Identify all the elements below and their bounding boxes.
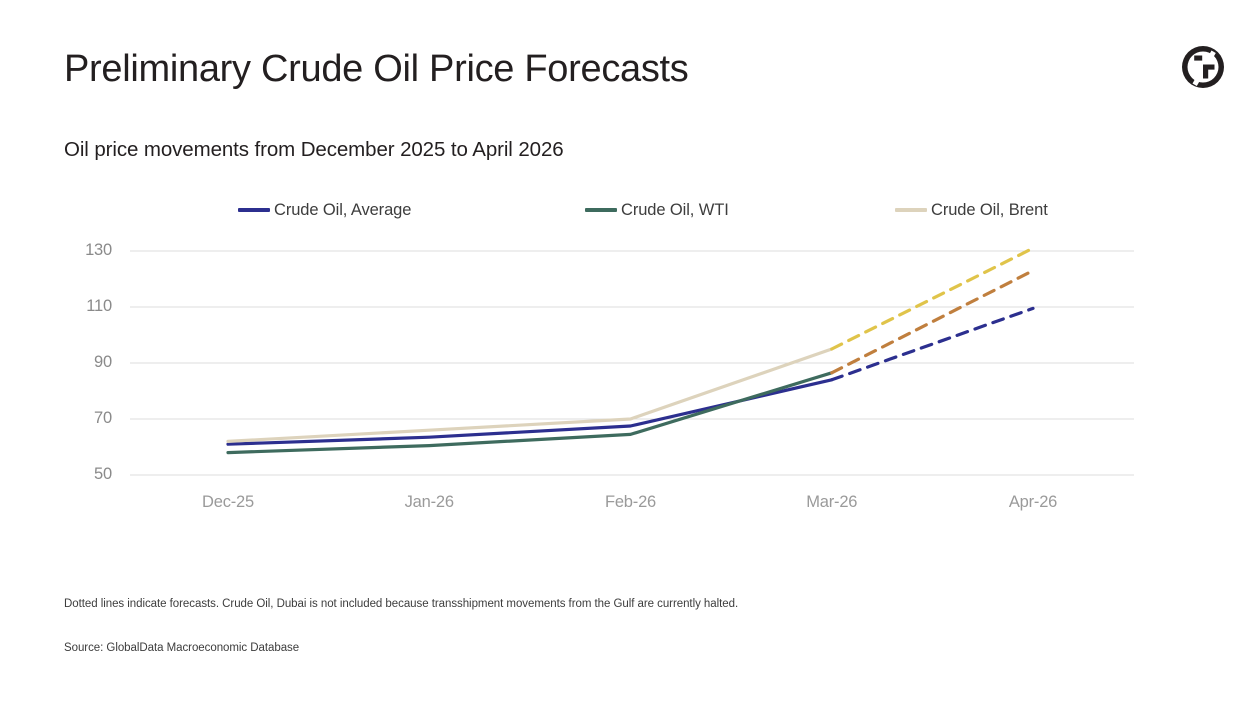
chart-source: Source: GlobalData Macroeconomic Databas… (64, 642, 299, 654)
y-tick-label: 50 (62, 465, 112, 484)
y-tick-label: 130 (62, 241, 112, 260)
y-tick-label: 110 (62, 297, 112, 316)
x-tick-label: Apr-26 (963, 493, 1103, 512)
x-tick-label: Dec-25 (158, 493, 298, 512)
chart-page: Preliminary Crude Oil Price Forecasts Oi… (0, 0, 1259, 708)
y-tick-label: 90 (62, 353, 112, 372)
y-tick-label: 70 (62, 409, 112, 428)
x-tick-label: Jan-26 (359, 493, 499, 512)
x-tick-label: Mar-26 (762, 493, 902, 512)
x-tick-label: Feb-26 (561, 493, 701, 512)
chart-footnote: Dotted lines indicate forecasts. Crude O… (64, 598, 738, 610)
